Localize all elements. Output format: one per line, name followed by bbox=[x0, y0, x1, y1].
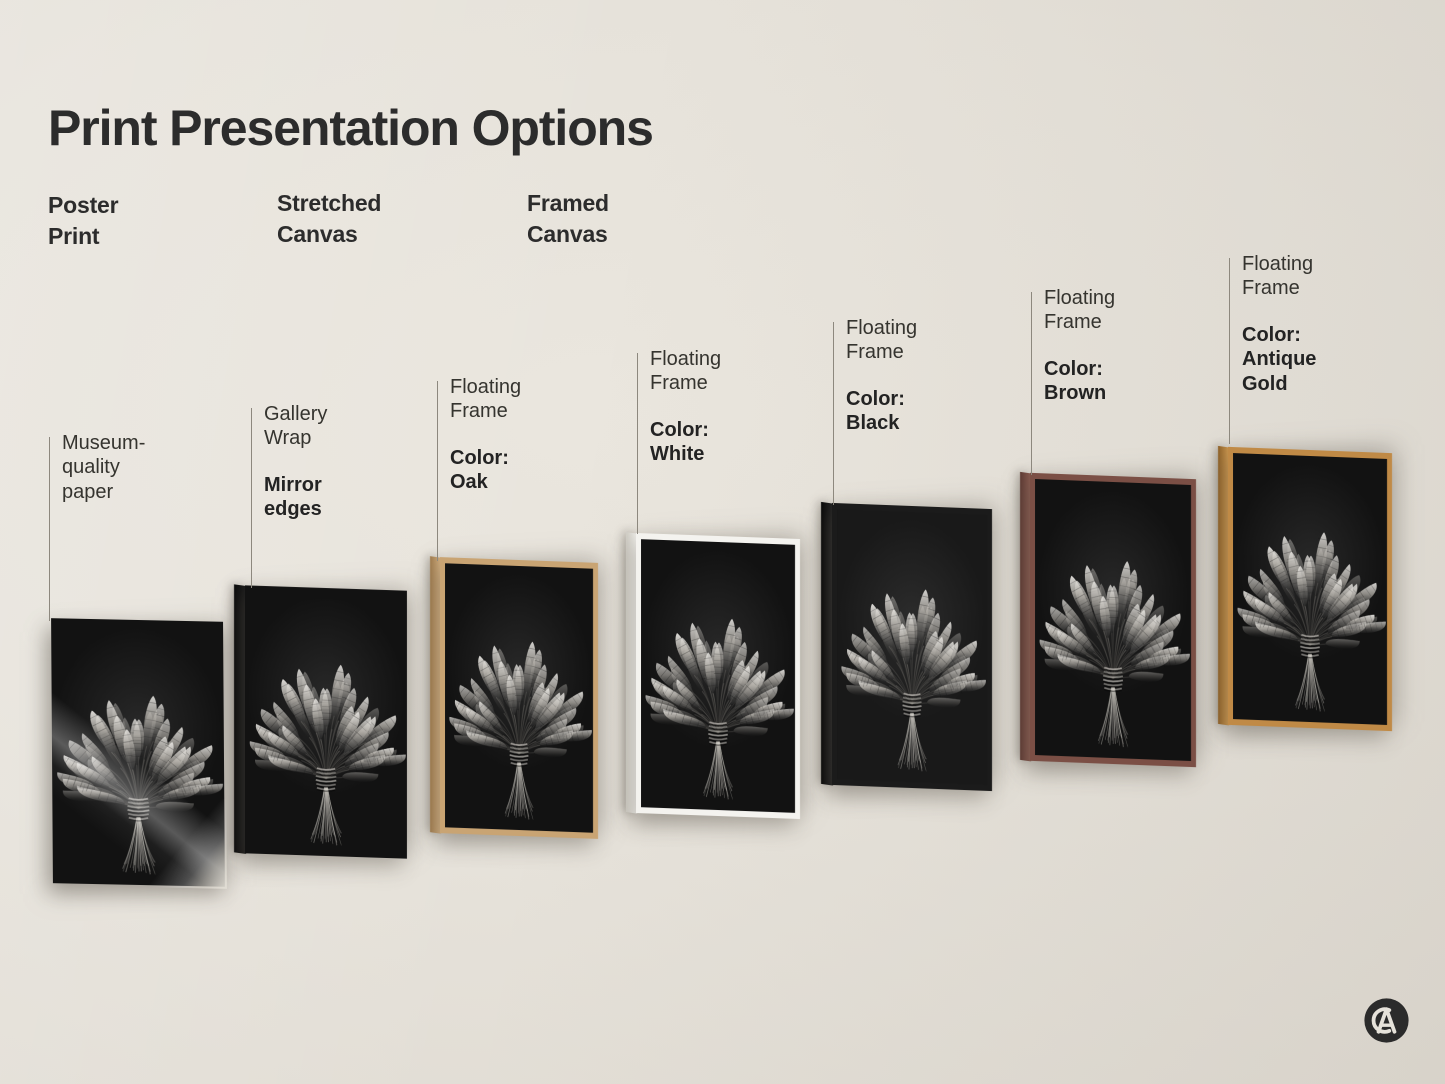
leader-line bbox=[637, 353, 638, 534]
category-poster-print: Poster Print bbox=[48, 190, 118, 251]
leader-line bbox=[251, 408, 252, 588]
frame-face-oak bbox=[440, 557, 598, 839]
bouquet-illustration bbox=[1035, 479, 1191, 761]
artwork-floating-frame-antique-gold[interactable] bbox=[1228, 447, 1392, 731]
callout-lead-text: Floating Frame bbox=[450, 375, 600, 424]
artwork-image-floating-frame-white bbox=[641, 539, 795, 813]
leader-line bbox=[833, 322, 834, 505]
ca-monogram-logo bbox=[1363, 997, 1410, 1044]
frame-face-white bbox=[636, 533, 800, 819]
callout-detail-text: Color: Brown bbox=[1044, 357, 1194, 406]
category-framed-canvas: Framed Canvas bbox=[527, 188, 609, 249]
artwork-floating-frame-black[interactable] bbox=[832, 503, 992, 791]
artwork-image-poster-print bbox=[51, 618, 225, 887]
callout-detail-text: Color: Oak bbox=[450, 446, 600, 495]
leader-line bbox=[49, 437, 50, 621]
artwork-stretched-canvas[interactable] bbox=[245, 585, 407, 858]
bouquet-illustration bbox=[51, 618, 225, 887]
leader-line bbox=[1031, 292, 1032, 475]
callout-detail-text: Color: White bbox=[650, 418, 800, 467]
bouquet-illustration bbox=[245, 585, 407, 858]
artwork-floating-frame-brown[interactable] bbox=[1030, 473, 1196, 767]
callout-lead-text: Floating Frame bbox=[846, 316, 996, 365]
bouquet-illustration bbox=[1233, 453, 1387, 725]
artwork-poster-print[interactable] bbox=[51, 618, 225, 887]
callout-lead-text: Floating Frame bbox=[1044, 286, 1194, 335]
callout-detail-text: Color: Antique Gold bbox=[1242, 323, 1392, 396]
callout-detail-text: Mirror edges bbox=[264, 473, 414, 522]
callout-lead-text: Museum- quality paper bbox=[62, 431, 212, 504]
frame-face-brown bbox=[1030, 473, 1196, 767]
artwork-floating-frame-white[interactable] bbox=[636, 533, 800, 819]
artwork-image-floating-frame-brown bbox=[1035, 479, 1191, 761]
artwork-image-floating-frame-antique-gold bbox=[1233, 453, 1387, 725]
bouquet-illustration bbox=[445, 563, 593, 832]
frame-face-black bbox=[832, 503, 992, 791]
callout-lead-text: Floating Frame bbox=[650, 347, 800, 396]
bouquet-illustration bbox=[837, 509, 987, 785]
artwork-image-stretched-canvas bbox=[245, 585, 407, 858]
leader-line bbox=[437, 381, 438, 561]
callout-detail-text: Color: Black bbox=[846, 387, 996, 436]
artwork-image-floating-frame-black bbox=[837, 509, 987, 785]
artwork-image-floating-frame-oak bbox=[445, 563, 593, 832]
artwork-floating-frame-oak[interactable] bbox=[440, 557, 598, 839]
callout-lead-text: Floating Frame bbox=[1242, 252, 1392, 301]
callout-lead-text: Gallery Wrap bbox=[264, 402, 414, 451]
frame-face-antique-gold bbox=[1228, 447, 1392, 731]
bouquet-illustration bbox=[641, 539, 795, 813]
leader-line bbox=[1229, 258, 1230, 444]
page-title: Print Presentation Options bbox=[48, 103, 653, 153]
category-stretched-canvas: Stretched Canvas bbox=[277, 188, 381, 249]
